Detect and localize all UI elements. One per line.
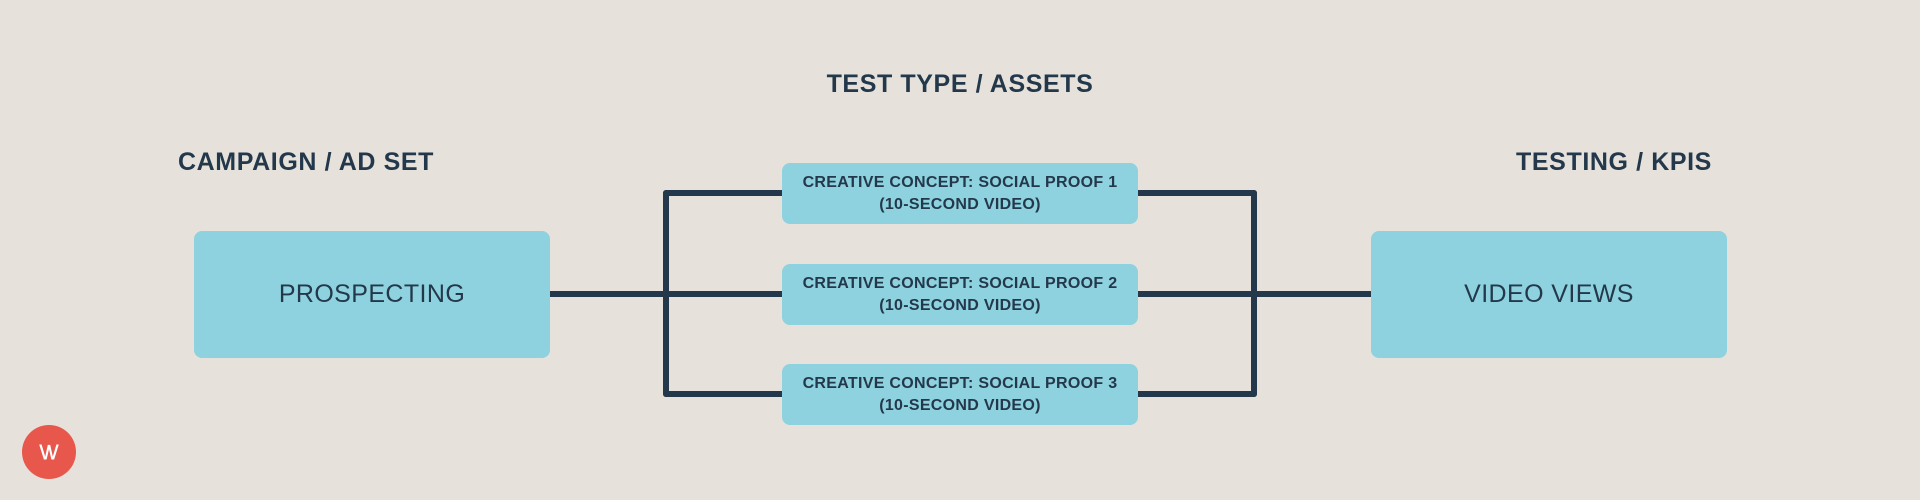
- node-creative-concept-1[interactable]: CREATIVE CONCEPT: SOCIAL PROOF 1 (10-SEC…: [782, 163, 1138, 224]
- node-creative-concept-2-line1: CREATIVE CONCEPT: SOCIAL PROOF 2: [803, 275, 1118, 292]
- node-creative-concept-3[interactable]: CREATIVE CONCEPT: SOCIAL PROOF 3 (10-SEC…: [782, 364, 1138, 425]
- node-video-views[interactable]: VIDEO VIEWS: [1371, 231, 1727, 358]
- node-prospecting-label: PROSPECTING: [279, 280, 465, 309]
- column-heading-test-type: TEST TYPE / ASSETS: [654, 70, 1266, 99]
- w-monogram-icon[interactable]: [22, 425, 76, 479]
- node-creative-concept-3-line1: CREATIVE CONCEPT: SOCIAL PROOF 3: [803, 375, 1118, 392]
- node-creative-concept-2[interactable]: CREATIVE CONCEPT: SOCIAL PROOF 2 (10-SEC…: [782, 264, 1138, 325]
- node-creative-concept-1-line1: CREATIVE CONCEPT: SOCIAL PROOF 1: [803, 174, 1118, 191]
- node-creative-concept-1-line2: (10-SECOND VIDEO): [879, 196, 1041, 213]
- column-heading-testing: TESTING / KPIS: [1308, 148, 1920, 177]
- node-prospecting[interactable]: PROSPECTING: [194, 231, 550, 358]
- node-creative-concept-2-line2: (10-SECOND VIDEO): [879, 297, 1041, 314]
- node-creative-concept-2-text: CREATIVE CONCEPT: SOCIAL PROOF 2 (10-SEC…: [803, 273, 1118, 316]
- node-video-views-label: VIDEO VIEWS: [1464, 280, 1634, 309]
- diagram-canvas: CAMPAIGN / AD SET TEST TYPE / ASSETS TES…: [0, 0, 1920, 500]
- node-creative-concept-3-text: CREATIVE CONCEPT: SOCIAL PROOF 3 (10-SEC…: [803, 373, 1118, 416]
- node-creative-concept-1-text: CREATIVE CONCEPT: SOCIAL PROOF 1 (10-SEC…: [803, 172, 1118, 215]
- column-heading-campaign: CAMPAIGN / AD SET: [0, 148, 612, 177]
- node-creative-concept-3-line2: (10-SECOND VIDEO): [879, 397, 1041, 414]
